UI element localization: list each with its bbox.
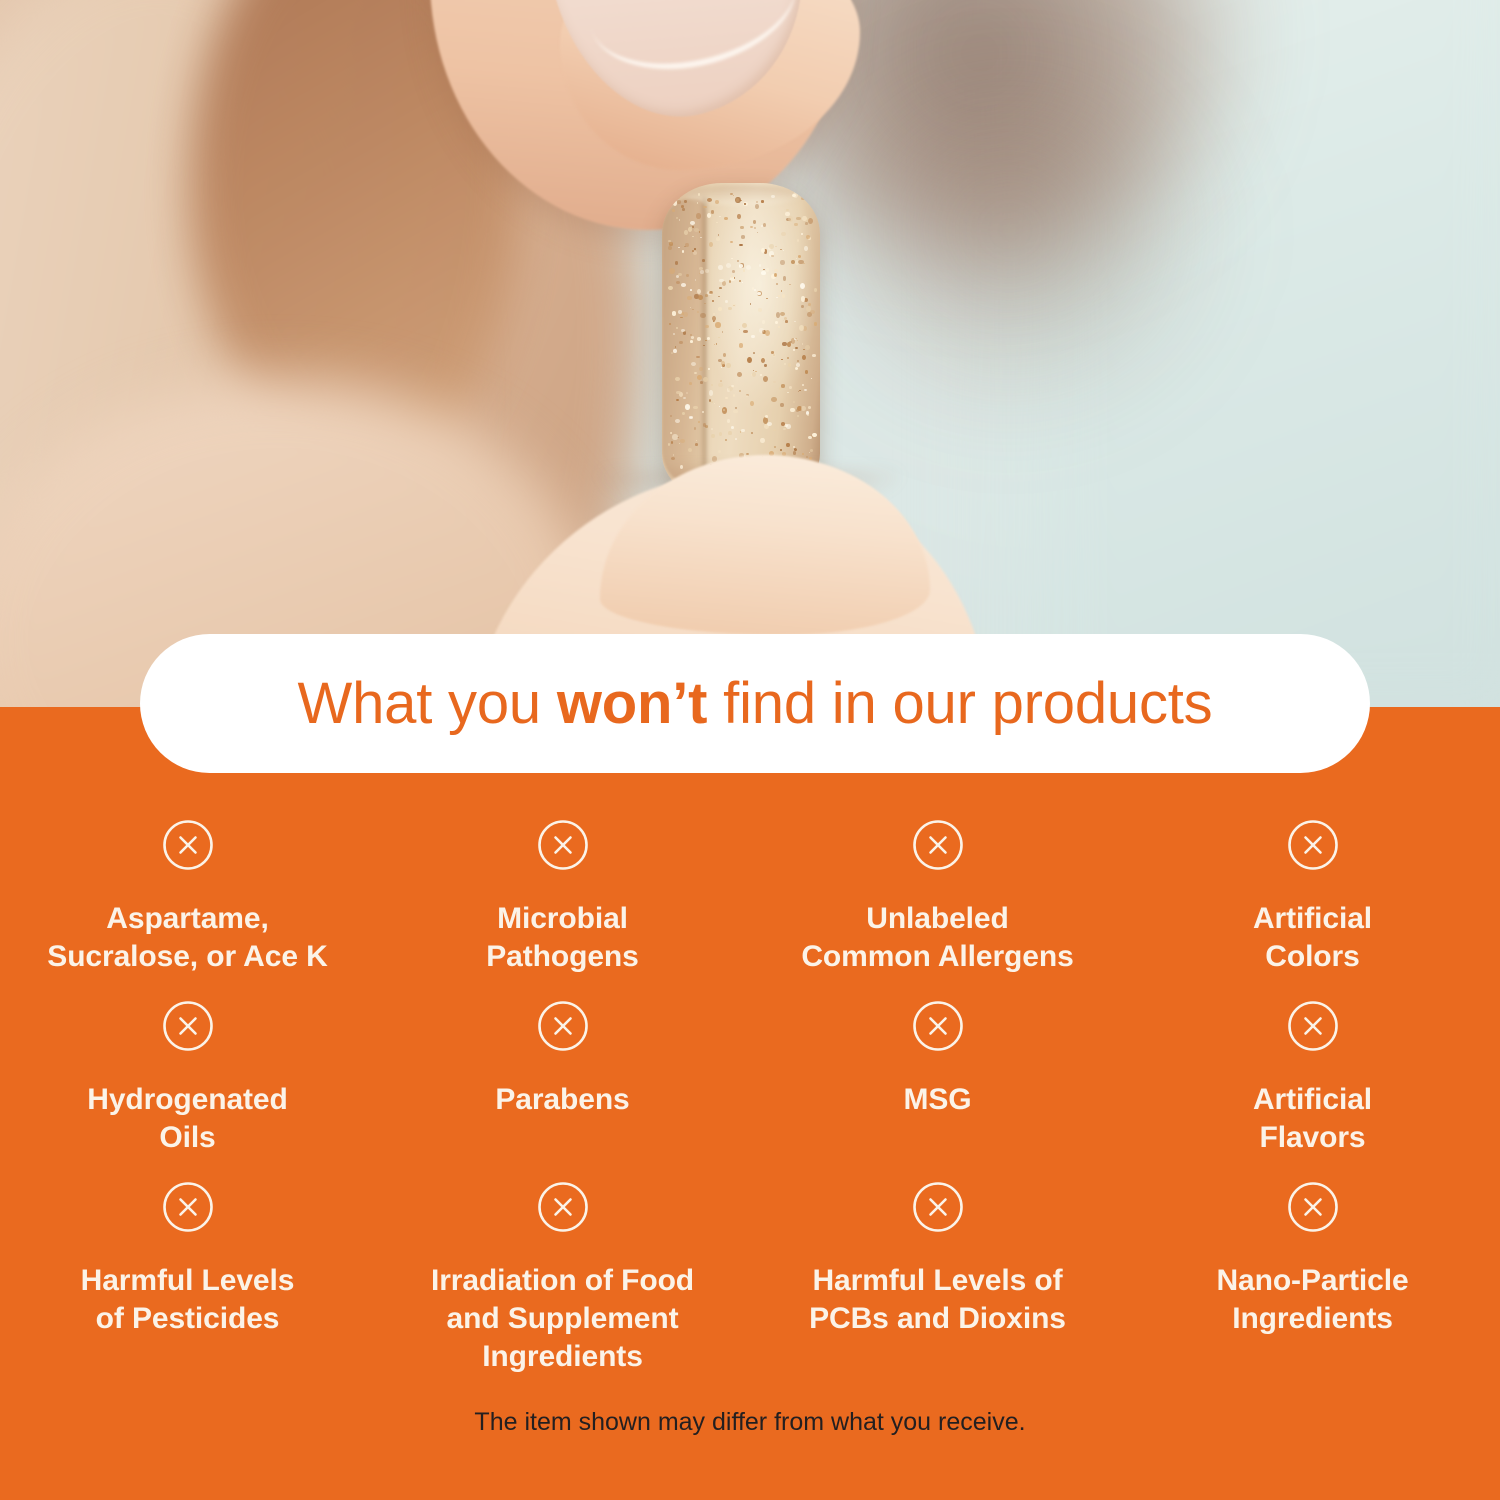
tablet-speckle <box>798 391 799 392</box>
tablet-speckle <box>760 374 762 376</box>
exclusion-label-line: Pathogens <box>486 940 638 973</box>
circle-x-icon <box>1286 999 1340 1053</box>
tablet-speckle <box>703 377 708 382</box>
tablet-speckle <box>773 381 775 383</box>
tablet-speckle <box>731 275 733 277</box>
product-photo <box>0 0 1500 712</box>
tablet-speckle <box>755 204 759 209</box>
tablet-speckle <box>799 390 801 392</box>
exclusion-item: Irradiation of Foodand SupplementIngredi… <box>375 1180 750 1377</box>
tablet-speckle <box>711 210 714 214</box>
tablet-speckle <box>743 269 746 271</box>
exclusion-label: Parabens <box>495 1081 629 1119</box>
exclusion-label-line: Colors <box>1265 940 1359 973</box>
tablet-speckle <box>814 322 817 326</box>
tablet-speckle <box>671 441 673 444</box>
exclusion-label: Harmful Levelsof Pesticides <box>81 1262 295 1339</box>
tablet-speckle <box>765 415 768 418</box>
tablet-speckle <box>675 195 680 199</box>
circle-x-icon <box>161 818 215 872</box>
tablet-speckle <box>774 446 776 447</box>
tablet-speckle <box>798 255 802 258</box>
tablet-speckle <box>719 279 723 282</box>
exclusion-label-line: Oils <box>159 1121 215 1154</box>
tablet-speckle <box>669 323 671 325</box>
tablet-speckle <box>783 276 786 280</box>
tablet-speckle <box>797 340 798 341</box>
exclusion-label-line: Nano-Particle <box>1216 1264 1408 1297</box>
tablet-speckle <box>781 290 783 292</box>
tablet-speckle <box>790 408 795 413</box>
tablet-speckle <box>731 385 734 387</box>
tablet-speckle <box>726 363 731 368</box>
tablet-speckle <box>712 300 714 302</box>
tablet-speckle <box>707 198 712 202</box>
tablet-speckle <box>763 223 766 227</box>
tablet-speckle <box>780 249 782 251</box>
tablet-speckle <box>751 432 753 434</box>
tablet-speckle <box>804 389 807 391</box>
tablet-speckle <box>746 265 751 270</box>
tablet-speckle <box>759 328 764 334</box>
tablet-speckle <box>795 367 798 370</box>
tablet-speckle <box>766 268 769 271</box>
disclaimer: The item shown may differ from what you … <box>0 1408 1500 1437</box>
tablet-speckle <box>780 403 784 407</box>
tablet-speckle <box>775 246 776 247</box>
tablet-speckle <box>733 394 735 397</box>
tablet-speckle <box>761 358 765 363</box>
headline-part-1: What you <box>298 671 557 736</box>
exclusion-label: HydrogenatedOils <box>87 1081 288 1158</box>
tablet-speckle <box>716 343 718 345</box>
exclusions-grid: Aspartame,Sucralose, or Ace KMicrobialPa… <box>0 818 1500 1377</box>
tablet-speckle <box>737 372 742 377</box>
tablet-speckle <box>803 349 805 351</box>
tablet-speckle <box>773 429 776 431</box>
exclusion-label-line: MSG <box>903 1083 971 1116</box>
tablet-speckle <box>761 271 765 275</box>
tablet-speckle <box>737 260 739 262</box>
tablet-speckle <box>807 414 809 416</box>
tablet-speckle <box>727 419 731 423</box>
tablet-speckle <box>728 307 732 311</box>
tablet-speckle <box>804 246 808 251</box>
tablet-speckle <box>716 222 718 224</box>
tablet-speckle <box>763 376 768 382</box>
tablet-speckle <box>719 216 721 217</box>
tablet-speckle <box>789 284 790 286</box>
exclusion-item: ArtificialFlavors <box>1125 999 1500 1158</box>
tablet-speckle <box>698 421 700 423</box>
tablet-speckle <box>800 283 805 289</box>
tablet-speckle <box>675 419 680 423</box>
tablet-speckle <box>692 226 694 228</box>
tablet-speckle <box>805 370 808 373</box>
tablet-speckle <box>801 197 805 200</box>
tablet-speckle <box>685 404 690 410</box>
tablet-speckle <box>681 329 685 332</box>
tablet-speckle <box>741 235 745 238</box>
tablet-speckle <box>720 380 722 382</box>
tablet-speckle <box>794 321 796 323</box>
tablet-speckle <box>742 323 747 328</box>
tablet-speckle <box>734 277 735 278</box>
tablet-speckle <box>780 449 782 452</box>
tablet-speckle <box>808 436 812 439</box>
tablet-speckle <box>725 300 728 303</box>
tablet-speckle <box>703 206 706 209</box>
tablet-speckle <box>801 296 806 301</box>
exclusion-label-line: Flavors <box>1259 1121 1365 1154</box>
tablet-speckle <box>700 270 703 274</box>
tablet-speckle <box>765 330 770 336</box>
tablet-speckle <box>683 312 688 316</box>
tablet-speckle <box>711 401 713 403</box>
tablet-speckle <box>810 449 814 452</box>
exclusion-label-line: Unlabeled <box>866 902 1008 935</box>
tablet-speckle <box>733 410 737 414</box>
tablet-speckle <box>782 294 785 297</box>
tablet-speckle <box>735 407 737 408</box>
tablet-speckle <box>778 295 780 296</box>
exclusion-label-line: Harmful Levels <box>81 1264 295 1297</box>
tablet-speckle <box>737 214 741 219</box>
circle-x-icon <box>536 818 590 872</box>
page-title: What you won’t find in our products <box>298 675 1213 733</box>
tablet-speckle <box>676 217 678 218</box>
headline-card: What you won’t find in our products <box>140 634 1370 773</box>
tablet-speckle <box>735 438 736 440</box>
tablet-speckle <box>719 406 721 407</box>
tablet-speckle <box>802 453 804 455</box>
tablet-speckle <box>712 316 716 321</box>
tablet-speckle <box>754 227 757 229</box>
tablet-speckle <box>718 307 723 311</box>
exclusion-item: MSG <box>750 999 1125 1158</box>
tablet-speckle <box>785 320 787 323</box>
tablet-speckle <box>782 342 786 346</box>
tablet-speckle <box>796 217 800 220</box>
tablet-speckle <box>694 248 696 250</box>
exclusion-label: ArtificialFlavors <box>1253 1081 1372 1158</box>
tablet-speckle <box>808 303 811 306</box>
tablet-speckle <box>719 287 721 289</box>
tablet-speckle <box>774 269 778 272</box>
tablet-speckle <box>781 232 785 236</box>
tablet-speckle <box>739 244 743 247</box>
tablet-speckle <box>746 395 747 397</box>
tablet-speckle <box>757 292 761 295</box>
tablet-speckle <box>808 218 813 224</box>
tablet-speckle <box>781 384 785 387</box>
tablet-speckle <box>682 250 684 252</box>
tablet-speckle <box>673 333 675 335</box>
tablet-speckle <box>672 434 677 439</box>
tablet-speckle <box>796 363 800 367</box>
tablet-speckle <box>750 303 751 305</box>
exclusion-label: MSG <box>903 1081 971 1119</box>
tablet-speckle <box>711 434 715 438</box>
exclusion-label: UnlabeledCommon Allergens <box>801 900 1073 977</box>
tablet-speckle <box>690 289 692 291</box>
tablet-speckle <box>797 415 800 417</box>
tablet-speckle <box>708 368 711 370</box>
tablet-speckle <box>784 363 786 365</box>
tablet-speckle <box>700 381 703 384</box>
tablet-speckle <box>793 349 795 351</box>
tablet-speckle <box>693 406 697 409</box>
tablet-speckle <box>713 313 715 315</box>
tablet-speckle <box>769 244 774 249</box>
tablet-speckle <box>724 217 728 220</box>
tablet-speckle <box>772 353 775 357</box>
tablet-speckle <box>699 367 703 371</box>
tablet-speckle <box>766 298 768 300</box>
tablet-speckle <box>675 346 676 347</box>
exclusion-label-line: Parabens <box>495 1083 629 1116</box>
tablet-speckle <box>739 343 744 347</box>
tablet-speckle <box>739 329 740 330</box>
circle-x-icon <box>161 1180 215 1234</box>
tablet-speckle <box>795 347 797 349</box>
circle-x-icon <box>1286 818 1340 872</box>
tablet-speckle <box>786 443 789 447</box>
circle-x-icon <box>536 1180 590 1234</box>
tablet-speckle <box>805 345 810 351</box>
tablet-speckle <box>780 312 785 316</box>
tablet-speckle <box>739 280 741 282</box>
tablet-speckle <box>812 354 816 357</box>
exclusion-label: Harmful Levels ofPCBs and Dioxins <box>809 1262 1066 1339</box>
tablet-speckle <box>783 250 784 251</box>
tablet-speckle <box>709 291 712 295</box>
exclusion-label-line: of Pesticides <box>96 1302 280 1335</box>
exclusion-label: Nano-ParticleIngredients <box>1216 1262 1408 1339</box>
tablet-speckle <box>698 295 702 300</box>
tablet-speckle <box>792 194 795 197</box>
tablet-speckle <box>693 251 697 255</box>
tablet-speckle <box>679 219 680 221</box>
tablet-speckle <box>714 403 715 404</box>
supplement-tablet <box>662 183 820 501</box>
tablet-speckle <box>716 237 719 241</box>
tablet-speckle <box>715 322 720 327</box>
tablet-speckle <box>692 250 694 252</box>
circle-x-icon <box>161 999 215 1053</box>
tablet-speckle <box>767 422 772 426</box>
tablet-speckle <box>787 392 789 393</box>
tablet-speckle <box>751 335 754 338</box>
tablet-speckle <box>707 337 710 340</box>
tablet-speckle <box>715 200 719 204</box>
tablet-speckle <box>774 273 777 277</box>
exclusion-label: ArtificialColors <box>1253 900 1372 977</box>
tablet-speckle <box>668 246 672 250</box>
tablet-speckle <box>707 213 711 218</box>
tablet-speckle <box>711 428 713 430</box>
exclusion-item: Nano-ParticleIngredients <box>1125 1180 1500 1377</box>
tablet-speckle <box>709 390 714 396</box>
tablet-speckle <box>709 242 713 247</box>
tablet-speckle <box>731 426 734 429</box>
tablet-speckle <box>742 282 743 283</box>
tablet-speckle <box>808 406 811 409</box>
tablet-speckle <box>671 352 673 354</box>
tablet-speckle <box>781 359 783 361</box>
tablet-speckle <box>757 232 758 233</box>
exclusion-item: HydrogenatedOils <box>0 999 375 1158</box>
tablet-speckle <box>747 357 752 363</box>
tablet-speckle <box>741 429 744 432</box>
tablet-speckle <box>721 367 722 368</box>
tablet-speckle <box>753 352 755 354</box>
tablet-speckle <box>802 343 804 345</box>
tablet-speckle <box>801 406 806 411</box>
tablet-speckle <box>668 240 670 242</box>
tablet-speckle <box>718 296 720 297</box>
tablet-speckle <box>725 439 727 441</box>
tablet-speckle <box>669 242 672 246</box>
tablet-speckle <box>691 362 696 366</box>
tablet-speckle <box>759 264 761 266</box>
exclusion-label-line: Artificial <box>1253 1083 1372 1116</box>
tablet-speckle <box>718 337 720 338</box>
circle-x-icon <box>911 818 965 872</box>
tablet-speckle <box>676 399 679 401</box>
exclusion-label: MicrobialPathogens <box>486 900 638 977</box>
exclusion-label-line: Hydrogenated <box>87 1083 288 1116</box>
tablet-speckle <box>773 227 775 229</box>
exclusion-item: Harmful Levelsof Pesticides <box>0 1180 375 1377</box>
headline-emphasis: won’t <box>557 671 707 736</box>
tablet-speckle <box>723 353 726 357</box>
tablet-speckle <box>794 223 797 226</box>
tablet-speckle <box>780 260 785 265</box>
tablet-speckle <box>672 311 676 316</box>
tablet-speckle <box>669 268 674 274</box>
tablet-speckle <box>732 270 735 273</box>
tablet-speckle <box>761 200 764 203</box>
tablet-speckle <box>728 431 731 435</box>
tablet-speckle <box>739 390 741 392</box>
tablet-speckle <box>678 273 682 276</box>
circle-x-icon <box>536 999 590 1053</box>
tablet-speckle <box>793 451 797 454</box>
tablet-speckle <box>696 213 701 218</box>
exclusion-label-line: PCBs and Dioxins <box>809 1302 1066 1335</box>
tablet-speckle <box>776 297 778 299</box>
tablet-speckle <box>771 351 773 353</box>
tablet-speckle <box>718 450 722 454</box>
tablet-speckle <box>774 253 776 256</box>
exclusion-label-line: Harmful Levels of <box>812 1264 1062 1297</box>
tablet-speckle <box>802 384 803 386</box>
tablet-speckle <box>771 397 776 402</box>
tablet-speckle <box>670 415 672 417</box>
tablet-speckle <box>753 220 756 223</box>
tablet-speckle <box>702 259 705 262</box>
tablet-speckle <box>722 331 723 333</box>
exclusion-label-line: Artificial <box>1253 902 1372 935</box>
exclusion-label-line: Ingredients <box>482 1340 643 1373</box>
tablet-speckle <box>718 383 722 387</box>
tablet-speckle <box>681 283 686 287</box>
tablet-speckle <box>809 452 811 454</box>
tablet-speckle <box>789 386 792 389</box>
headline-part-2: find in our products <box>707 671 1212 736</box>
tablet-speckle <box>726 263 731 268</box>
tablet-speckle <box>730 193 732 195</box>
exclusion-item: ArtificialColors <box>1125 818 1500 977</box>
tablet-speckle <box>786 209 789 211</box>
tablet-speckle <box>692 309 693 311</box>
tablet-speckle <box>705 325 709 328</box>
tablet-speckle <box>740 226 744 230</box>
tablet-speckle <box>788 216 793 222</box>
tablet-speckle <box>718 265 723 269</box>
circle-x-icon <box>911 999 965 1053</box>
tablet-speckle <box>758 308 762 311</box>
exclusion-item: Harmful Levels ofPCBs and Dioxins <box>750 1180 1125 1377</box>
exclusion-label-line: Common Allergens <box>801 940 1073 973</box>
tablet-speckle <box>671 457 675 460</box>
exclusion-item: Parabens <box>375 999 750 1158</box>
tablet-speckle <box>793 401 795 403</box>
tablet-speckle <box>764 364 767 367</box>
tablet-speckle <box>690 340 694 343</box>
tablet-speckle <box>694 427 696 429</box>
tablet-speckle <box>673 349 677 353</box>
tablet-speckle <box>811 378 812 379</box>
tablet-speckle <box>700 313 705 318</box>
tablet-speckle <box>730 241 733 243</box>
tablet-speckle <box>812 433 817 437</box>
tablet-speckle <box>760 438 765 444</box>
tablet-speckle <box>762 320 766 325</box>
exclusion-label-line: Microbial <box>497 902 628 935</box>
tablet-speckle <box>787 357 789 358</box>
tablet-speckle <box>719 432 723 437</box>
tablet-speckle <box>801 233 803 235</box>
tablet-speckle <box>689 416 692 419</box>
tablet-speckle <box>732 304 735 307</box>
tablet-speckle <box>718 234 719 235</box>
exclusion-item: UnlabeledCommon Allergens <box>750 818 1125 977</box>
exclusion-label-line: and Supplement <box>447 1302 679 1335</box>
tablet-speckle <box>754 289 756 291</box>
tablet-speckle <box>750 226 753 229</box>
exclusion-label-line: Aspartame, <box>106 902 268 935</box>
exclusion-label: Aspartame,Sucralose, or Ace K <box>47 900 327 977</box>
tablet-speckle <box>744 203 746 204</box>
tablet-speckle <box>805 222 808 225</box>
tablet-speckle <box>680 439 685 443</box>
tablet-speckle <box>682 208 684 211</box>
tablet-speckle <box>763 269 765 271</box>
tablet-speckle <box>797 360 799 362</box>
tablet-speckle <box>684 230 688 234</box>
exclusion-item: Aspartame,Sucralose, or Ace K <box>0 818 375 977</box>
tablet-speckle <box>806 235 810 239</box>
tablet-speckle <box>801 305 804 308</box>
tablet-speckle <box>672 209 675 212</box>
tablet-speckle <box>802 216 806 221</box>
tablet-speckle <box>788 363 791 367</box>
tablet-speckle <box>775 321 778 324</box>
tablet-speckle <box>776 283 778 286</box>
tablet-speckle <box>676 327 678 328</box>
